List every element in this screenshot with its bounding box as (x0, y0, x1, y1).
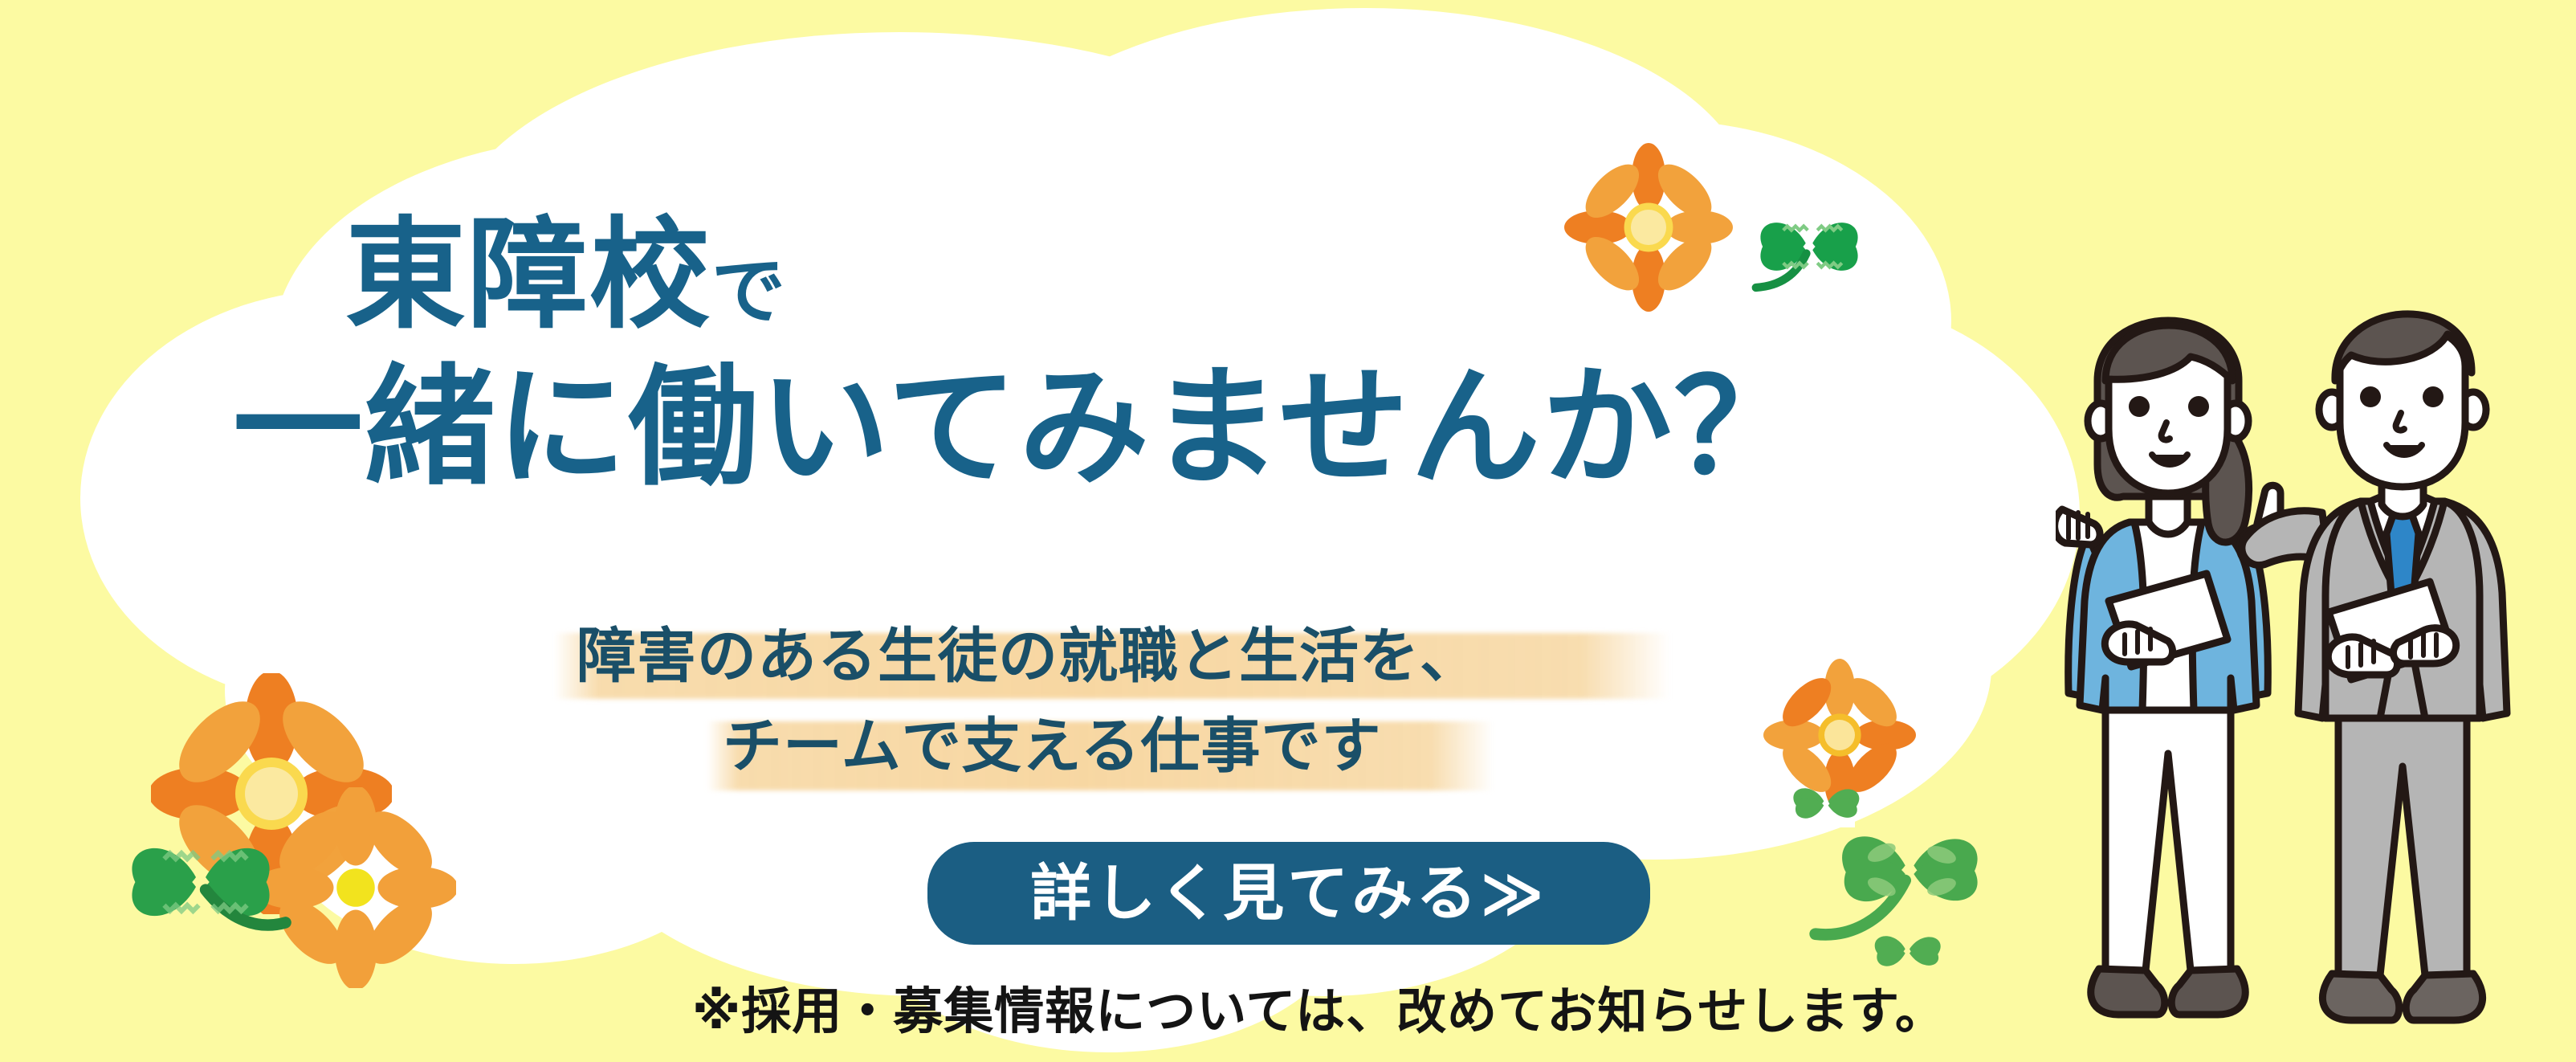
subtitle-line-2: チームで支える仕事です (723, 717, 1382, 776)
details-cta-label: 詳しく見てみる≫ (1030, 863, 1547, 924)
text-content-layer: 東障校で 一緒に働いてみませんか？ 障害のある生徒の就職と生活を、 チームで支え… (0, 0, 2576, 1062)
recruitment-footnote: ※採用・募集情報については、改めてお知らせします。 (692, 986, 1946, 1036)
headline-line-2: 一緒に働いてみませんか？ (233, 363, 1805, 493)
headline-line-1: 東障校で (345, 215, 787, 336)
recruitment-banner: 東障校で 一緒に働いてみませんか？ 障害のある生徒の就職と生活を、 チームで支え… (0, 0, 2576, 1062)
headline-school-name: 東障校 (345, 206, 711, 345)
details-cta-button[interactable]: 詳しく見てみる≫ (927, 842, 1650, 945)
headline-particle-de: で (711, 248, 787, 334)
subtitle-line-1: 障害のある生徒の就職と生活を、 (577, 627, 1480, 686)
